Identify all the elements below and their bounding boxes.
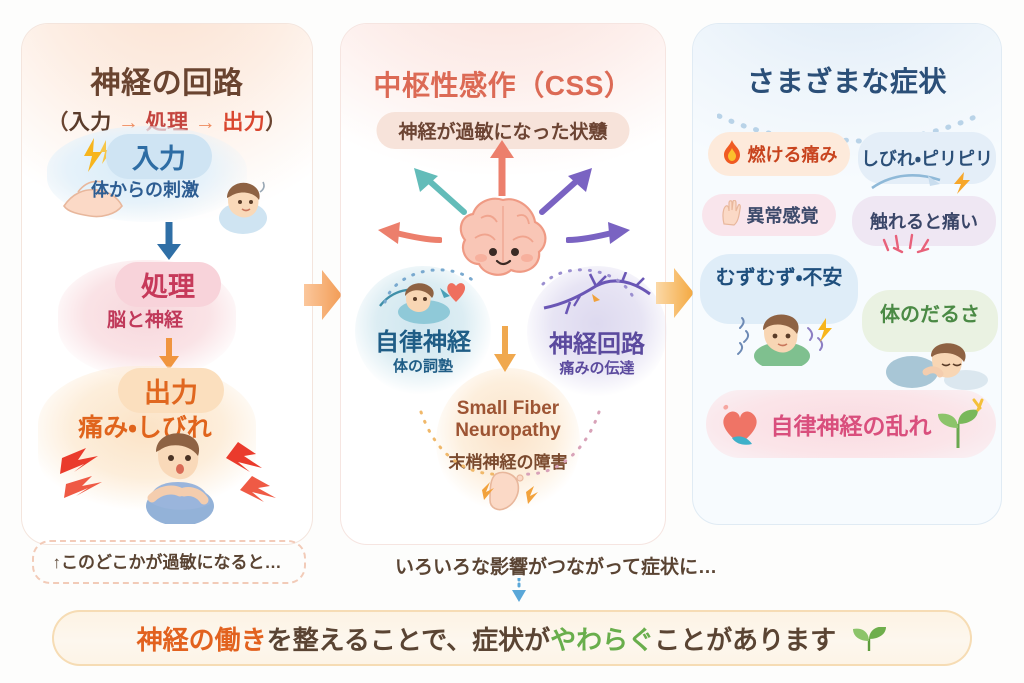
step-output-label: 出力	[118, 368, 224, 413]
hand-icon	[720, 200, 742, 231]
banner-part-b: を整えることで、症状が	[267, 625, 550, 655]
symptom-label: 体のだるさ	[880, 298, 980, 327]
symptom-tag-fatigue[interactable]: 体のだるさ	[862, 290, 998, 352]
banner-text: 神経の働きを整えることで、症状がやわらぐことがあります	[137, 620, 888, 657]
circle-nerve-title: 神経回路	[549, 332, 645, 357]
sprout-icon	[930, 398, 986, 450]
circle-nerve-desc: 痛みの伝達	[559, 357, 634, 378]
symptom-label: むずむず・不安	[716, 261, 843, 290]
circle-autonomic-title: 自律神経	[375, 330, 471, 355]
mid-panel-title: 中枢性感作（CSS）	[341, 64, 665, 104]
subtitle-arrow-2: →	[195, 111, 216, 134]
connector-arrow-left-to-mid-icon	[304, 268, 342, 322]
symptom-label: 触れると痛い	[870, 208, 978, 234]
right-panel-title: さまざまな症状	[693, 60, 1001, 100]
left-panel-title: 神経の回路	[22, 58, 312, 102]
nerve-branch-icon	[540, 272, 656, 330]
connector-arrow-mid-to-right-icon	[656, 266, 694, 320]
symptom-tag-numbness-tingling[interactable]: しびれ・ピリピリ	[858, 132, 996, 184]
sleeping-person-icon	[372, 272, 472, 330]
subtitle-output: 出力	[222, 111, 265, 134]
infographic-canvas: 神経の回路 （入力 → 処理 → 出力） 入力 体からの刺激 処理 脳と神経	[0, 0, 1024, 683]
step-input-label: 入力	[106, 134, 212, 179]
spark-icon	[878, 232, 948, 254]
arrow-right-icon	[566, 218, 630, 252]
arrow-down-to-sfn-icon	[490, 326, 520, 376]
left-panel-footer: ↑このどこかが過敏になると…	[22, 548, 312, 573]
bottom-banner: 神経の働きを整えることで、症状がやわらぐことがあります	[52, 610, 972, 666]
lightning-icon	[868, 170, 988, 196]
symptom-label: 自律神経の乱れ	[771, 407, 932, 441]
symptom-label: 燃ける痛み	[748, 141, 838, 167]
flame-icon	[721, 140, 743, 169]
heart-icon	[718, 404, 762, 446]
arrow-left-icon	[378, 218, 442, 252]
symptom-label: 異常感覚	[747, 202, 819, 228]
arrow-input-to-process-icon	[152, 222, 186, 262]
sfn-line-1: Small Fiber	[457, 398, 559, 420]
person-in-pain-icon	[128, 428, 228, 524]
worried-person-icon	[730, 310, 840, 366]
step-process-label: 処理	[115, 262, 221, 307]
symptom-tag-burning-pain[interactable]: 燃ける痛み	[708, 132, 850, 176]
brain-icon	[455, 196, 551, 280]
sfn-line-2: Neuropathy	[455, 420, 561, 442]
subtitle-close-paren: ）	[265, 111, 286, 134]
banner-part-c: やわらぐ	[550, 625, 654, 655]
symptom-tag-autonomic-disorder[interactable]: 自律神経の乱れ	[706, 390, 996, 458]
step-input-desc: 体からの刺激	[0, 176, 290, 202]
symptom-tag-pain-on-touch[interactable]: 触れると痛い	[852, 196, 996, 246]
banner-part-a: 神経の働き	[137, 625, 267, 655]
subtitle-open-paren: （	[47, 111, 68, 134]
leaf-icon	[846, 625, 887, 655]
symptom-tag-abnormal-sensation[interactable]: 異常感覚	[702, 194, 836, 236]
symptom-tag-restlessness-anxiety[interactable]: むずむず・不安	[700, 254, 858, 324]
circle-autonomic-desc: 体の詞塾	[393, 355, 453, 376]
mid-panel-footer: いろいろな影響がつながって症状に…	[341, 552, 771, 579]
resting-person-icon	[874, 340, 990, 392]
foot-icon	[480, 468, 540, 518]
banner-part-d: ことがあります	[654, 625, 836, 655]
symptom-label: しびれ・ピリピリ	[861, 145, 993, 171]
arrow-down-to-banner-icon	[509, 578, 529, 604]
step-process-desc: 脳と神経	[0, 305, 290, 332]
arrow-up-icon	[485, 140, 519, 196]
